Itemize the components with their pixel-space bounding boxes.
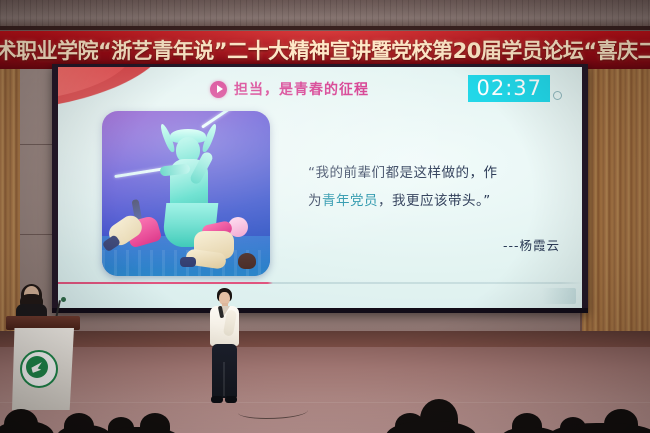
slide-quote: “我的前辈们都是这样做的，作 为青年党员，我更应该带头。” <box>308 159 560 215</box>
quote-line-2-pre: 为 <box>308 193 322 209</box>
opera-performance-photo <box>102 111 270 276</box>
quote-highlight: 青年党员 <box>322 193 378 209</box>
quote-line-1: “我的前辈们都是这样做的，作 <box>308 159 560 187</box>
slide-title: 担当，是青春的征程 <box>234 79 369 99</box>
performer-background-head <box>238 253 256 269</box>
screen-bezel-bottom <box>52 308 588 313</box>
presenter-trouser-gap <box>223 362 225 396</box>
timer-dot-decoration <box>553 91 562 100</box>
projection-screen: 担当，是青春的征程 02:37 <box>52 64 588 313</box>
presenter-shoe-right <box>225 396 237 403</box>
play-triangle <box>217 85 223 93</box>
conference-hall-scene: 艺术职业学院“浙艺青年说”二十大精神宣讲暨党校第20届学员论坛“喜庆二十大浙艺学… <box>0 0 650 433</box>
podium-microphone-head <box>61 297 66 302</box>
stage-floor <box>0 347 650 433</box>
slide-corner-decoration <box>542 288 576 304</box>
performer-right-boot <box>180 257 196 267</box>
presenter <box>206 288 240 412</box>
spear-raised <box>201 111 241 129</box>
podium-top <box>6 316 80 330</box>
wood-panel-right <box>582 58 650 358</box>
quote-line-2: 为青年党员，我更应该带头。” <box>308 187 560 215</box>
stage-edge <box>0 331 650 347</box>
slide-divider-rule <box>58 282 582 284</box>
play-icon[interactable] <box>210 81 227 98</box>
event-banner-text: 艺术职业学院“浙艺青年说”二十大精神宣讲暨党校第20届学员论坛“喜庆二十大浙艺学… <box>0 35 650 65</box>
performer-kneeling-right <box>184 209 256 269</box>
presenter-shoe-left <box>211 396 223 403</box>
countdown-timer: 02:37 <box>468 75 550 102</box>
slide-title-row: 担当，是青春的征程 <box>210 79 369 99</box>
quote-attribution: ---杨霞云 <box>503 235 560 254</box>
presentation-slide: 担当，是青春的征程 02:37 <box>58 67 582 310</box>
quote-line-2-post: ，我更应该带头。” <box>378 193 491 209</box>
college-emblem-icon <box>20 350 58 388</box>
floor-seam <box>0 402 650 403</box>
